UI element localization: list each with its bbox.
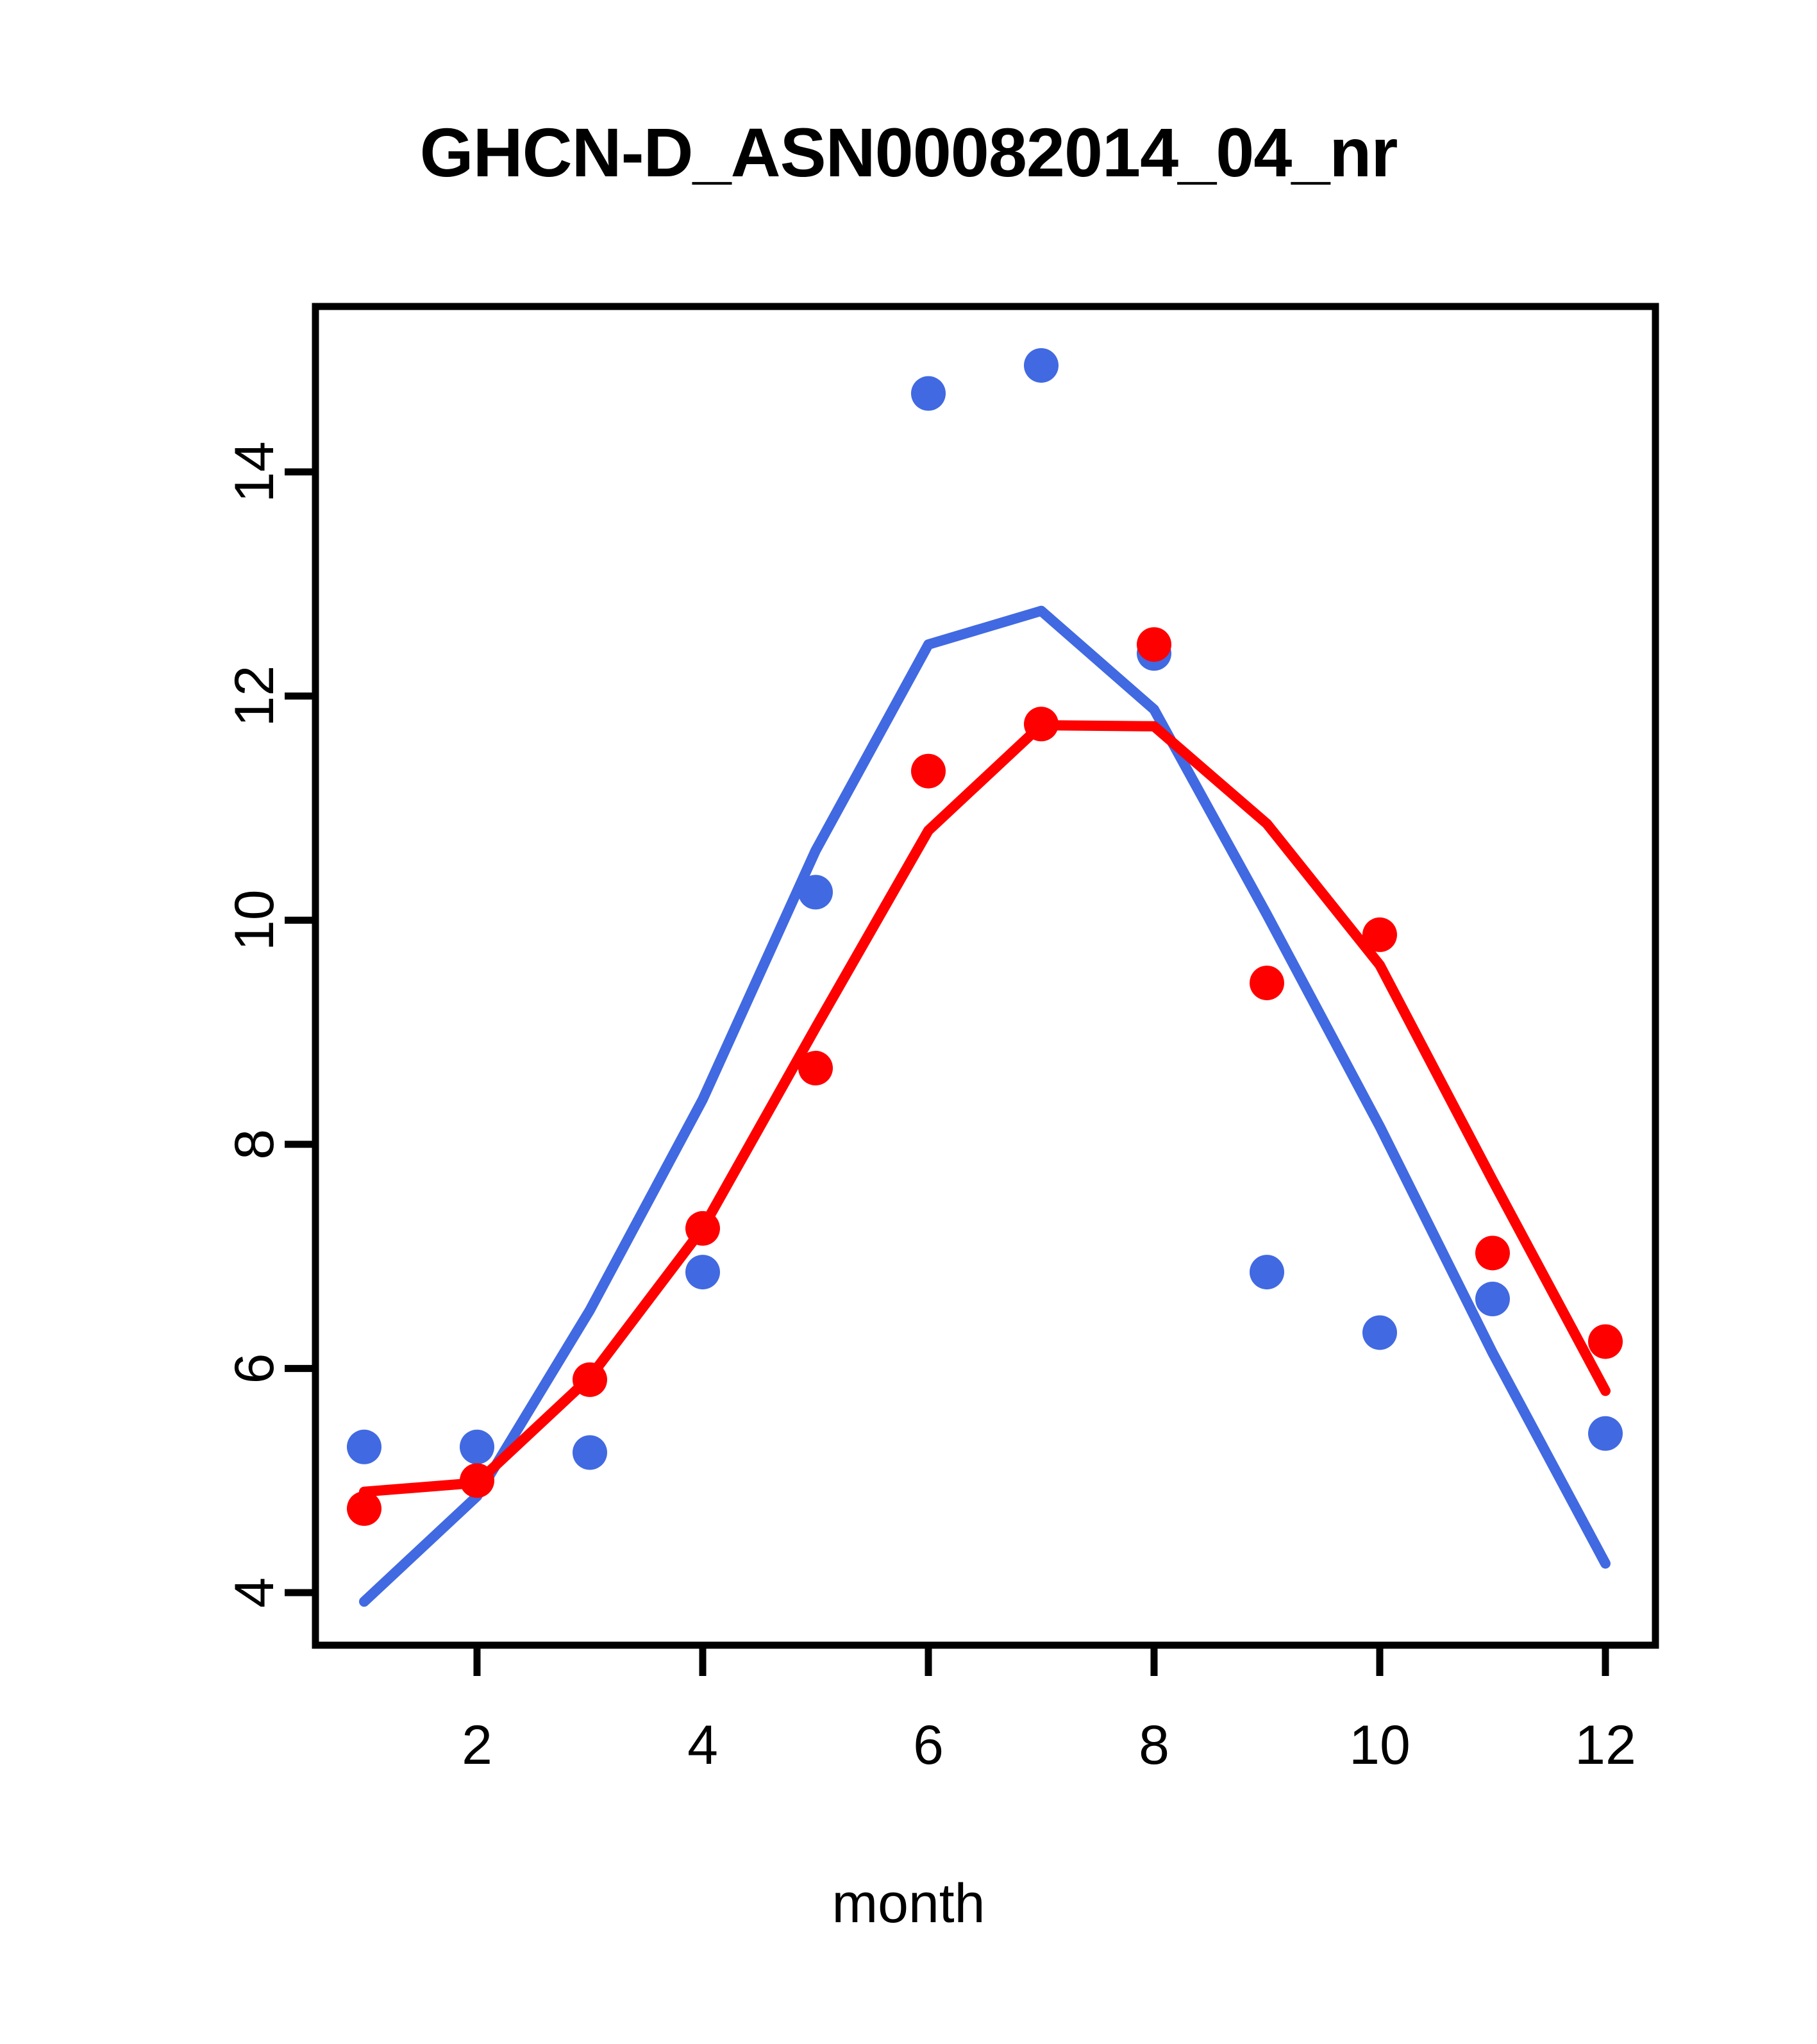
data-point-blue-points [685, 1255, 720, 1289]
x-axis-tick-label: 10 [1349, 1714, 1411, 1776]
data-point-blue-points [798, 875, 833, 910]
y-axis-tick-label: 14 [224, 441, 285, 503]
y-axis-tick-label: 10 [224, 889, 285, 951]
chart-page: GHCN-D_ASN00082014_04_nr 468101214246810… [0, 0, 1817, 2044]
y-axis-tick-label: 12 [224, 666, 285, 727]
data-point-blue-points [1024, 348, 1059, 383]
x-axis-tick-label: 8 [1139, 1714, 1169, 1776]
data-point-blue-points [347, 1430, 381, 1464]
data-point-blue-points [911, 376, 946, 411]
data-point-red-points [460, 1463, 494, 1498]
data-point-red-points [573, 1362, 607, 1397]
series-line-blue-line [364, 611, 1605, 1602]
plot-canvas: 46810121424681012 [0, 0, 1817, 2044]
y-axis-tick-label: 4 [224, 1577, 285, 1608]
data-point-red-points [1475, 1236, 1510, 1270]
x-axis-tick-label: 12 [1575, 1714, 1636, 1776]
x-axis-tick-label: 2 [462, 1714, 492, 1776]
data-point-blue-points [460, 1430, 494, 1464]
data-point-red-points [685, 1211, 720, 1246]
data-point-blue-points [1588, 1416, 1623, 1451]
x-axis-label: month [0, 1872, 1817, 1936]
data-point-blue-points [1362, 1315, 1397, 1350]
x-axis-tick-label: 4 [687, 1714, 718, 1776]
y-axis-tick-label: 8 [224, 1129, 285, 1160]
data-point-red-points [1362, 917, 1397, 952]
data-point-blue-points [1250, 1255, 1284, 1289]
data-point-red-points [798, 1051, 833, 1085]
data-point-red-points [1024, 707, 1059, 741]
data-point-red-points [1250, 966, 1284, 1000]
y-axis-tick-label: 6 [224, 1353, 285, 1384]
data-point-blue-points [1475, 1282, 1510, 1316]
data-point-red-points [347, 1491, 381, 1526]
data-point-red-points [911, 754, 946, 789]
data-point-blue-points [573, 1436, 607, 1470]
x-axis-tick-label: 6 [913, 1714, 944, 1776]
data-point-red-points [1588, 1324, 1623, 1359]
data-point-red-points [1137, 627, 1171, 662]
